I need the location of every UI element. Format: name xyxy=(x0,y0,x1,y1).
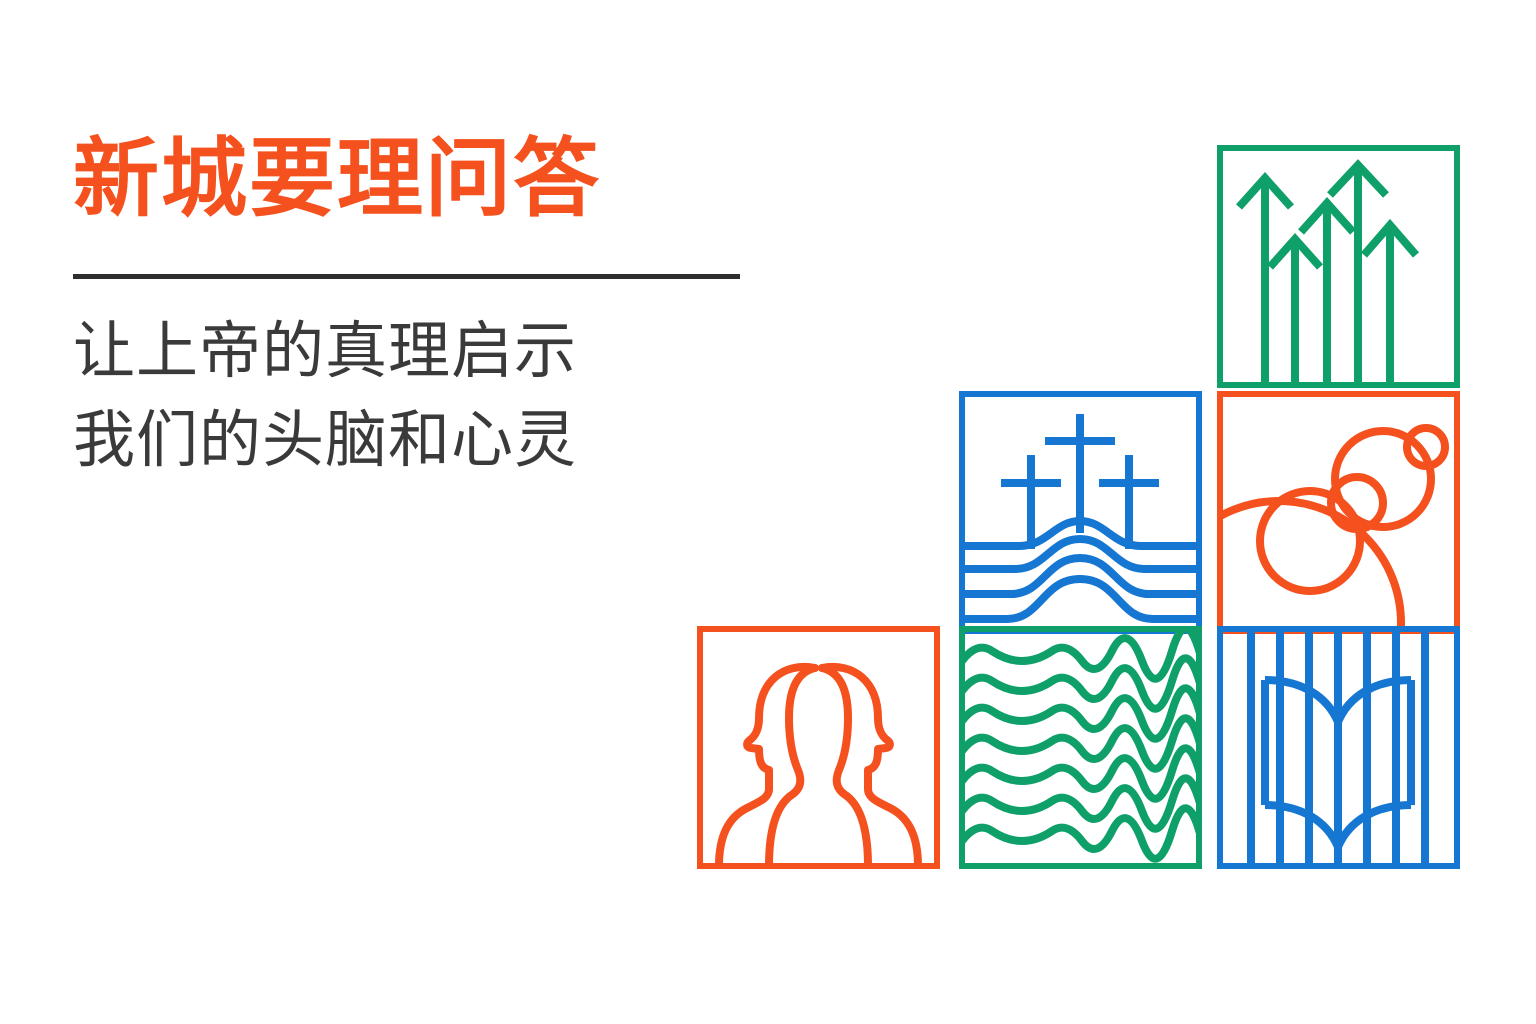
rising-circles-icon xyxy=(1217,391,1460,634)
three-crosses-hill-icon xyxy=(959,391,1202,634)
tile-water-waves[interactable] xyxy=(959,626,1202,869)
title-block: 新城要理问答 让上帝的真理启示 我们的头脑和心灵 xyxy=(73,136,773,484)
poster-canvas: 新城要理问答 让上帝的真理启示 我们的头脑和心灵 xyxy=(0,0,1536,1024)
title-divider xyxy=(73,274,740,279)
tile-three-crosses[interactable] xyxy=(959,391,1202,634)
subtitle: 让上帝的真理启示 我们的头脑和心灵 xyxy=(73,307,773,484)
page-title: 新城要理问答 xyxy=(73,136,773,222)
tile-growth-arrows[interactable] xyxy=(1217,145,1460,388)
open-book-icon xyxy=(1217,626,1460,869)
two-profiles-icon xyxy=(697,626,940,869)
subtitle-line-1: 让上帝的真理启示 xyxy=(73,307,773,396)
tile-rising-circles[interactable] xyxy=(1217,391,1460,634)
water-waves-icon xyxy=(959,626,1202,869)
subtitle-line-2: 我们的头脑和心灵 xyxy=(73,396,773,485)
growth-arrows-icon xyxy=(1217,145,1460,388)
tile-open-book[interactable] xyxy=(1217,626,1460,869)
tile-two-profiles[interactable] xyxy=(697,626,940,869)
